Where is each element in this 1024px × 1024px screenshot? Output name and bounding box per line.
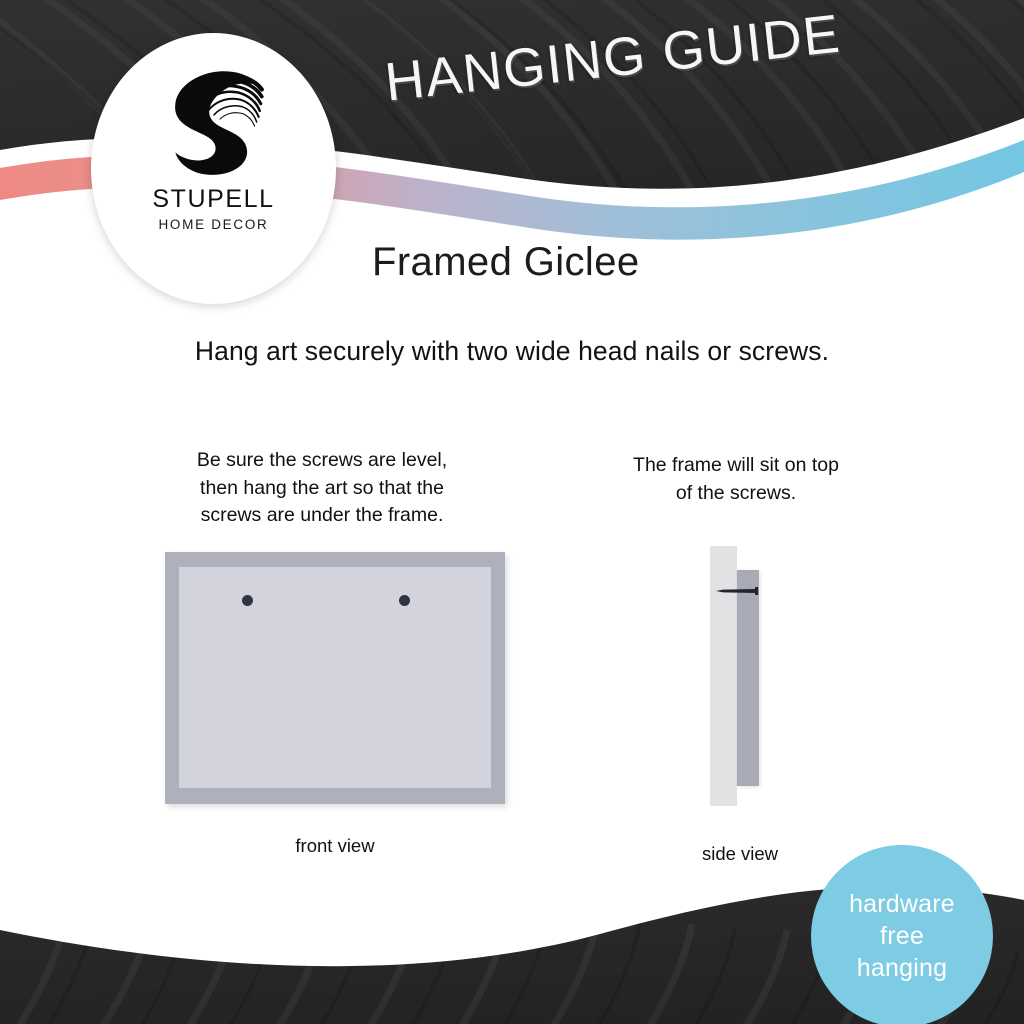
badge-line-1: hardware xyxy=(849,888,955,920)
screw-dot-right-icon xyxy=(399,595,410,606)
frame-mat-area xyxy=(179,567,491,788)
screw-dot-left-icon xyxy=(242,595,253,606)
side-view-frame-diagram xyxy=(700,546,780,806)
front-view-instruction-text: Be sure the screws are level, then hang … xyxy=(150,447,494,530)
front-view-label: front view xyxy=(165,835,505,857)
nail-icon xyxy=(716,587,762,595)
main-instruction-text: Hang art securely with two wide head nai… xyxy=(0,336,1024,367)
brand-logo-badge: STUPELL HOME DECOR xyxy=(91,33,336,304)
wall-cross-section xyxy=(710,546,737,806)
side-view-label: side view xyxy=(660,843,820,865)
brand-tagline: HOME DECOR xyxy=(158,218,268,232)
brand-name: STUPELL xyxy=(152,187,274,212)
front-view-frame-diagram xyxy=(165,552,505,804)
product-type-label: Framed Giclee xyxy=(372,240,640,285)
hardware-free-hanging-badge: hardware free hanging xyxy=(811,845,993,1024)
badge-line-3: hanging xyxy=(857,952,947,984)
stupell-swirl-logo-icon xyxy=(153,59,275,181)
page-title: HANGING GUIDE xyxy=(382,3,844,114)
frame-cross-section xyxy=(737,570,759,786)
side-view-instruction-text: The frame will sit on top of the screws. xyxy=(600,452,872,507)
badge-line-2: free xyxy=(880,920,924,952)
hanging-guide-page: STUPELL HOME DECOR HANGING GUIDE Framed … xyxy=(0,0,1024,1024)
